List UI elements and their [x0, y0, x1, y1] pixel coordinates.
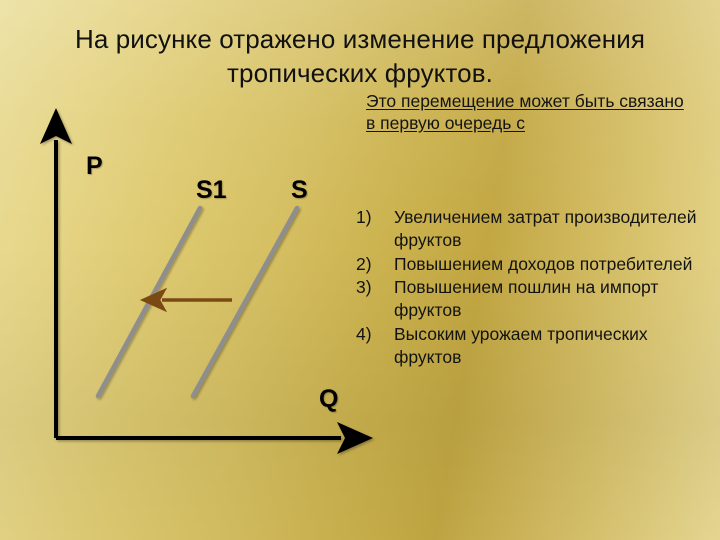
question-stem: Это перемещение может быть связано в пер…: [366, 90, 696, 135]
curve-label-s1: S1: [196, 176, 227, 205]
answer-option-1[interactable]: 1)Увеличением затрат производителей фрук…: [354, 206, 704, 252]
answer-option-number: 3): [356, 276, 390, 299]
answer-option-text: Высоким урожаем тропических фруктов: [394, 324, 648, 367]
answer-options-list: 1)Увеличением затрат производителей фрук…: [354, 206, 704, 369]
answer-option-number: 1): [356, 206, 390, 229]
x-axis-label: Q: [319, 385, 338, 414]
answer-option-number: 2): [356, 253, 390, 276]
answer-option-3[interactable]: 3)Повышением пошлин на импорт фруктов: [354, 276, 704, 322]
curve-s: [193, 208, 297, 396]
answer-option-text: Повышением доходов потребителей: [394, 254, 692, 274]
answer-option-2[interactable]: 2)Повышением доходов потребителей: [354, 253, 704, 276]
curve-label-s: S: [291, 176, 308, 205]
y-axis-label: P: [86, 152, 103, 181]
answer-option-text: Повышением пошлин на импорт фруктов: [394, 277, 658, 320]
slide-canvas: На рисунке отражено изменение предложени…: [0, 0, 720, 540]
answer-option-4[interactable]: 4)Высоким урожаем тропических фруктов: [354, 323, 704, 369]
answer-option-number: 4): [356, 323, 390, 346]
curve-s1: [98, 208, 200, 396]
answer-option-text: Увеличением затрат производителей фрукто…: [394, 207, 697, 250]
supply-shift-chart: P Q S1 S: [0, 0, 380, 480]
